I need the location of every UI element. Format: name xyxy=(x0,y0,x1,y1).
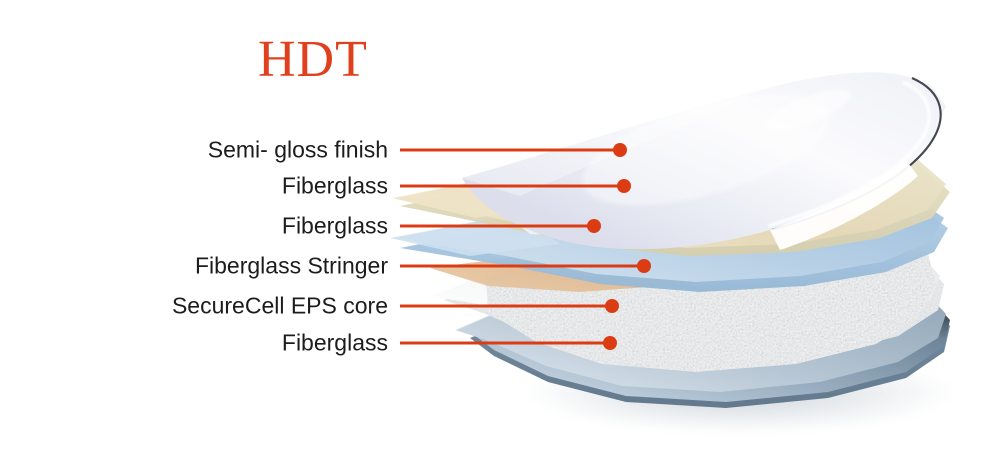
callout-dot-fiberglass-stringer xyxy=(637,259,651,273)
callout-dot-securecell-eps-core xyxy=(605,299,619,313)
brand-logo-hdt: HDT xyxy=(258,34,368,86)
callout-overlay xyxy=(0,0,1000,466)
exploded-surfboard-diagram: HDT Semi- gloss finishFiberglassFibergla… xyxy=(0,0,1000,466)
callout-dot-fiberglass-second xyxy=(587,219,601,233)
callout-dot-fiberglass-bottom xyxy=(603,336,617,350)
layer-label-fiberglass-second: Fiberglass xyxy=(282,215,388,238)
layer-label-fiberglass-bottom: Fiberglass xyxy=(282,332,388,355)
callout-dot-semi-gloss-finish xyxy=(613,143,627,157)
callout-dot-fiberglass-top xyxy=(617,179,631,193)
layer-label-fiberglass-top: Fiberglass xyxy=(282,175,388,198)
layer-label-securecell-eps-core: SecureCell EPS core xyxy=(172,295,388,318)
layer-label-fiberglass-stringer: Fiberglass Stringer xyxy=(195,255,388,278)
layer-label-semi-gloss-finish: Semi- gloss finish xyxy=(208,139,388,162)
